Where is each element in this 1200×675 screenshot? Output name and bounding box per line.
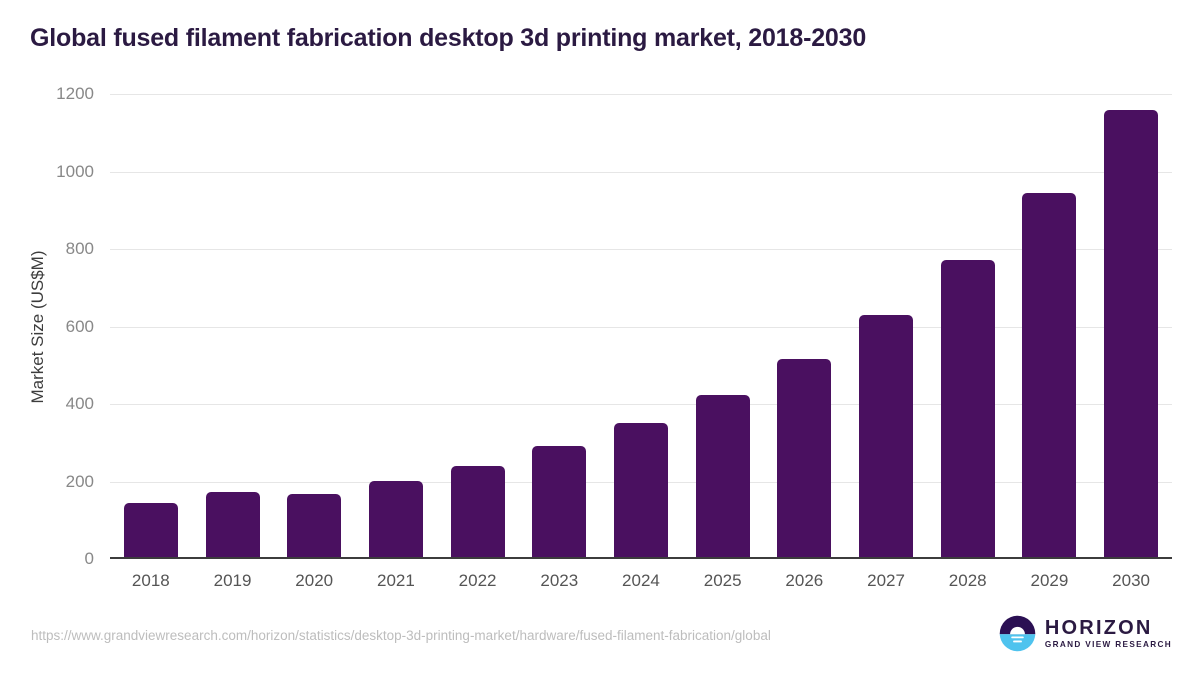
bar-slot: 2025 (682, 94, 764, 559)
x-axis-tick-label: 2025 (704, 571, 742, 591)
bar-slot: 2020 (273, 94, 355, 559)
y-axis-tick-label: 1000 (24, 162, 94, 182)
x-axis-tick-label: 2021 (377, 571, 415, 591)
bar-slot: 2022 (437, 94, 519, 559)
bar[interactable] (532, 446, 586, 559)
x-axis-tick-label: 2023 (540, 571, 578, 591)
horizon-logo: HORIZON GRAND VIEW RESEARCH (999, 615, 1172, 652)
bar[interactable] (1022, 193, 1076, 559)
x-axis-tick-label: 2020 (295, 571, 333, 591)
bar-series: 2018201920202021202220232024202520262027… (110, 94, 1172, 559)
bar[interactable] (941, 260, 995, 559)
y-axis-tick-label: 0 (24, 549, 94, 569)
x-axis-tick-label: 2030 (1112, 571, 1150, 591)
bar-slot: 2029 (1009, 94, 1091, 559)
bar[interactable] (859, 315, 913, 560)
x-axis-tick-label: 2022 (459, 571, 497, 591)
x-axis-tick-label: 2019 (214, 571, 252, 591)
bar-slot: 2024 (600, 94, 682, 559)
y-axis-tick-label: 200 (24, 472, 94, 492)
x-axis-tick-label: 2026 (785, 571, 823, 591)
bar-slot: 2021 (355, 94, 437, 559)
y-axis-label: Market Size (US$M) (28, 250, 48, 403)
source-url[interactable]: https://www.grandviewresearch.com/horizo… (31, 628, 771, 643)
bar[interactable] (287, 494, 341, 559)
x-axis-tick-label: 2024 (622, 571, 660, 591)
x-axis-tick-label: 2029 (1030, 571, 1068, 591)
page-title: Global fused filament fabrication deskto… (30, 24, 866, 53)
logo-wordmark: HORIZON (1045, 618, 1172, 638)
chart-card: Global fused filament fabrication deskto… (0, 0, 1200, 675)
bar[interactable] (696, 395, 750, 559)
chart-plot-area: 020040060080010001200 Market Size (US$M)… (110, 94, 1172, 559)
bar[interactable] (1104, 110, 1158, 559)
bar[interactable] (614, 423, 668, 559)
logo-tagline: GRAND VIEW RESEARCH (1045, 641, 1172, 649)
bar[interactable] (369, 481, 423, 559)
bar-slot: 2023 (518, 94, 600, 559)
bar-slot: 2018 (110, 94, 192, 559)
bar[interactable] (206, 492, 260, 559)
bar-slot: 2030 (1090, 94, 1172, 559)
bar-slot: 2027 (845, 94, 927, 559)
bar-slot: 2026 (764, 94, 846, 559)
x-axis-tick-label: 2018 (132, 571, 170, 591)
bar-slot: 2028 (927, 94, 1009, 559)
bar[interactable] (451, 466, 505, 559)
bar-slot: 2019 (192, 94, 274, 559)
x-axis-tick-label: 2028 (949, 571, 987, 591)
bar[interactable] (124, 503, 178, 559)
horizon-logo-icon (999, 615, 1036, 652)
x-axis-tick-label: 2027 (867, 571, 905, 591)
y-axis-tick-label: 1200 (24, 84, 94, 104)
x-axis-line (110, 557, 1172, 559)
logo-text-block: HORIZON GRAND VIEW RESEARCH (1045, 618, 1172, 649)
bar[interactable] (777, 359, 831, 559)
